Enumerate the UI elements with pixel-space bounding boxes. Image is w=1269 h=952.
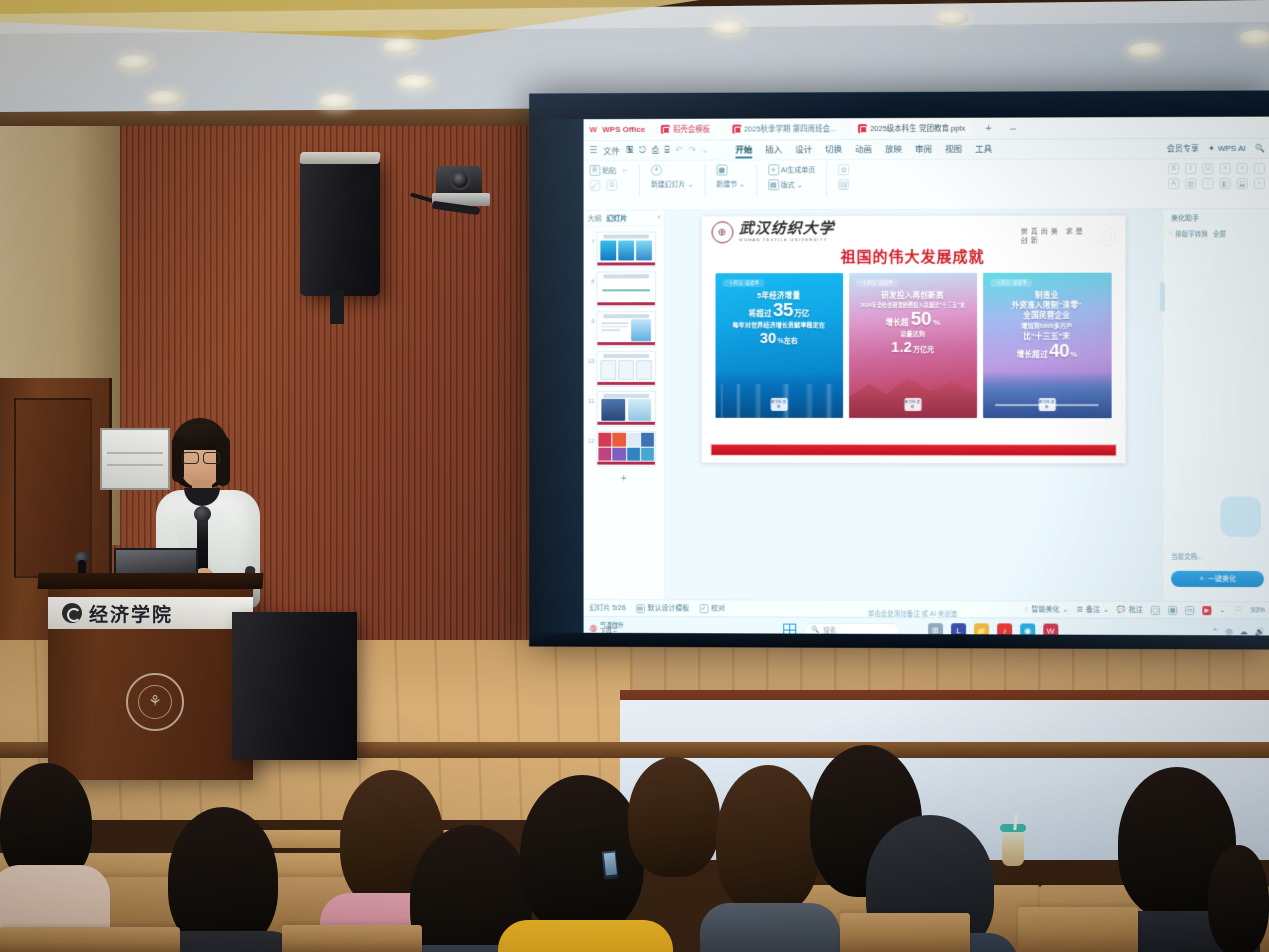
undo-icon[interactable]: ↶ [675,145,682,156]
wps-brand-icon: W [589,125,599,134]
beautify-cta-label: 一键美化 [1208,574,1236,584]
taskbar-apps: ⊞ L 📁 ♪ ◉ W [928,623,1058,636]
ai-page-button[interactable]: ✧ AI生成单页 [768,164,815,175]
audience-shoulders [498,920,673,952]
network-icon[interactable]: ◎ [1226,627,1233,636]
layout-grid-icon: ▦ [716,165,727,176]
toolbar-divider [826,164,827,196]
reading-view-icon[interactable]: ▭ [1185,606,1194,615]
thumbnail-number: 11 [587,391,595,405]
minimize-button[interactable]: – [1006,122,1020,134]
university-name: 武汉纺织大学 WUHAN TEXTILE UNIVERSITY [739,222,835,242]
speaker-top-cap [299,152,380,164]
card-body: 制造业 外资准入限制"清零" 全国民营企业 增加到5800多万户 比"十三五"末… [983,287,1112,361]
hexagon-decor-icon [1096,223,1117,251]
achievement-card-1: "十四五"成绩单 5年经济增量 将超过 35 万亿 每年对世界经济增长贡献率稳定… [715,273,843,418]
card-big-unit: % [933,318,940,327]
toolbar-divider [704,165,705,197]
copy-button[interactable]: ⧉ [606,180,617,191]
current-slide[interactable]: ⊕ 武汉纺织大学 WUHAN TEXTILE UNIVERSITY 崇真尚美 求… [701,215,1125,463]
card-big-unit: 万亿 [794,309,809,318]
windows-taskbar: ◍ 气温微升 下周三 🔍 搜索 ⊞ L 📁 ♪ [584,616,1269,636]
downlight-icon [398,75,432,90]
card-big-number: 35 [773,301,793,320]
chip-share-label: 全屏 [1213,228,1226,238]
ribbon-tab-design[interactable]: 设计 [795,143,812,157]
motto-calligraphy: 崇真尚美 求是创新 [1021,228,1091,246]
ribbon-tabs: 开始 插入 设计 切换 动画 放映 审阅 视图 工具 [735,142,992,157]
zoom-level[interactable]: 93% [1251,607,1265,614]
search-placeholder: 搜索 [823,625,836,635]
save-icon[interactable]: 🖫 [626,143,633,157]
card-line-1: 研发投入再创新高 [855,291,971,301]
card-line-5: 比"十三五"末 [989,332,1105,342]
tab-template-label: 稻壳会模板 [673,124,710,135]
chip-fullscreen[interactable]: 全屏 [1213,228,1226,238]
ribbon-tab-view[interactable]: 视图 [945,142,962,156]
downlight-icon [383,39,417,54]
search-icon[interactable]: 🔍 [1255,144,1265,153]
weather-temp: 气温微升 [600,623,624,629]
slide-decoration: 崇真尚美 求是创新 [1021,222,1117,252]
section-button[interactable]: 新建节 ⌄ [716,179,745,189]
tab-template-store[interactable]: 稻壳会模板 [655,122,716,137]
audience-head [1208,845,1269,952]
audience-head [520,775,644,935]
card-body: 研发投入再创新高 2024年全社会研发经费投入总量比"十三五"末 增长超 50 … [849,287,977,356]
slide-notes-placeholder[interactable]: 单击此处添加备注 或 AI 来创造 [665,607,1162,619]
panel-title: 美化助手 [1163,209,1269,223]
ribbon-tab-transition[interactable]: 切换 [825,143,842,157]
chip-font-convert[interactable]: ◌ 排版字转换 [1169,228,1208,238]
ribbon-tab-insert[interactable]: 插入 [765,143,782,157]
wps-ai-button[interactable]: ✦ WPS AI [1208,144,1246,153]
university-name-cn: 武汉纺织大学 [739,222,835,237]
template-icon: ▤ [636,604,645,613]
university-emblem: ⚘ [126,673,184,731]
layout-label: 版式 [781,180,795,190]
slide-thumbnail[interactable] [596,232,655,268]
find-replace-icon[interactable]: ⌕ [1254,178,1265,189]
thumbnail-panel-header: 大纲 幻灯片 ‹ [584,211,664,227]
list-item[interactable]: 8 [584,269,664,309]
slide-thumbnail[interactable] [596,311,655,347]
print-preview-icon[interactable]: ⌸ [664,145,669,156]
card-line-3: 全国民营企业 [989,311,1105,321]
card-big-unit-2: %左右 [777,338,797,345]
achievement-card-2: "十四五"成绩单 研发投入再创新高 2024年全社会研发经费投入总量比"十三五"… [849,273,977,418]
microphone-head [194,506,211,522]
card-photo-bridge [983,372,1112,418]
wps-ribbon-toolbar: ⎘ 粘贴 ✂ 🖌 ⧉ [584,159,1269,211]
play-icon[interactable]: ▶ [1202,606,1211,615]
ribbon-tab-review[interactable]: 审阅 [915,142,932,156]
paste-button[interactable]: ⎘ 粘贴 [589,165,616,176]
card-line-1: 制造业 [989,291,1105,301]
card-line-2: 外资准入限制"清零" [989,301,1105,311]
lectern-top [37,573,263,589]
paste-icon: ⎘ [589,165,600,176]
wall-speaker [300,158,380,296]
font-color-icon[interactable]: A [1168,178,1179,189]
layout-group: ▦ 新建节 ⌄ [716,164,745,189]
clipboard-group: ⎘ 粘贴 ✂ 🖌 ⧉ [589,165,628,191]
downlight-icon [148,91,182,106]
downlight-icon [1240,30,1269,45]
thumb-content [597,238,655,262]
card-line-3-prefix: 增长超 [885,318,908,328]
thumbnail-number: 7 [587,232,595,246]
thumbnail-number: 10 [587,351,595,365]
card-big-number: 50 [911,310,931,329]
file-menu-button[interactable]: 文件 [603,144,620,156]
thumb-accent-bar [597,462,655,465]
beautify-icon[interactable]: ✿ [838,164,849,175]
tab-outline[interactable]: 大纲 [588,213,602,223]
member-benefits-button[interactable]: 会员专享 [1167,143,1199,154]
slide-counter: 幻灯片 5/26 [589,603,625,613]
ai-sparkle-icon: ✧ [768,164,779,175]
school-name-label: 经济学院 [89,600,173,627]
wps-ai-label: WPS AI [1218,144,1246,153]
achievement-card-3: "十四五"成绩单 制造业 外资准入限制"清零" 全国民营企业 增加到5800多万… [983,273,1112,418]
thumb-content [597,358,655,382]
audience-area [0,735,1269,952]
copy-icon: ⧉ [606,180,617,191]
audience-phone [600,849,619,881]
task-view-icon[interactable]: ⊞ [928,623,943,636]
thumb-accent-bar [597,422,655,425]
audience-shoulders [700,903,840,952]
align-left-icon[interactable]: ≡ [1219,163,1230,174]
document-tab-2-label: 2025级本科生 党团教育.pptx [870,123,965,134]
ai-group: ✧ AI生成单页 ▤ 版式 ⌄ [768,164,815,190]
bench-seatback [282,925,422,952]
glasses-icon [181,452,221,463]
school-logo-icon [62,603,82,623]
card-photo-mountain [849,372,977,418]
card-source-badge: 新华社 发布 [904,398,921,411]
document-tab-1-label: 2025秋季学期 第四周班会... [744,123,836,134]
template-icon [661,125,670,134]
picture-icon[interactable]: 🖼 [838,179,849,190]
wps-workspace: 大纲 幻灯片 ‹ 7 [584,209,1269,601]
card-big-number-2: 1.2 [891,340,912,356]
bench-seatback [1018,907,1138,952]
card-big-unit: % [1070,350,1077,359]
list-item[interactable]: 12 [584,429,664,469]
university-seal-icon: ⊕ [711,221,733,243]
slide-cards: "十四五"成绩单 5年经济增量 将超过 35 万亿 每年对世界经济增长贡献率稳定… [701,273,1125,418]
chevron-down-icon: ⌄ [797,181,803,189]
line-spacing-icon[interactable]: ↕ [1202,178,1213,189]
slide-thumbnail[interactable] [596,271,655,307]
cloud-icon[interactable]: ☁ [1240,627,1248,636]
kugou-icon[interactable]: ♪ [997,623,1012,636]
pptx-file-icon [858,124,867,133]
downlight-icon [319,94,353,109]
thumb-accent-bar [597,302,655,305]
brush-icon: 🖌 [589,180,600,191]
underline-icon[interactable]: U [1202,163,1213,174]
cut-button[interactable]: ✂ [622,166,628,174]
downlight-icon [118,55,152,70]
card-big-unit-2: 万亿元 [913,347,934,354]
arrange-icon[interactable]: ⬓ [1237,178,1248,189]
slide-layout-icon: ▤ [768,179,779,190]
ptz-camera [432,166,490,214]
align-center-icon[interactable]: ≡ [1237,163,1248,174]
highlight-icon[interactable]: ▨ [1185,178,1196,189]
slides-group: + 新建幻灯片 ⌄ [651,165,694,190]
downlight-icon [1128,43,1162,58]
teams-icon[interactable]: L [951,623,966,636]
camera-lens-icon [450,170,470,190]
chip-font-label: 排版字转换 [1175,228,1208,238]
new-slide-icon-button[interactable]: + [651,165,662,176]
university-name-en: WUHAN TEXTILE UNIVERSITY [739,238,835,242]
card-source-badge: 新华社 发布 [770,398,787,411]
ai-page-label: AI生成单页 [781,165,816,175]
wps-office-window: W WPS Office 稻壳会模板 2025秋季学期 第四周班会... 202… [584,117,1269,636]
thumb-accent-bar [597,382,655,385]
card-line-6-prefix: 增长超过 [1017,350,1048,360]
door-panel [14,398,92,578]
slide-thumbnail[interactable] [596,431,655,467]
ribbon-tab-animation[interactable]: 动画 [855,143,872,157]
list-item[interactable]: 9 [584,309,664,349]
file-explorer-icon[interactable]: 📁 [974,623,989,636]
wps-title-bar: W WPS Office 稻壳会模板 2025秋季学期 第四周班会... 202… [584,117,1269,141]
list-item[interactable]: 10 [584,349,664,389]
search-input[interactable]: 🔍 搜索 [804,622,900,635]
bold-icon[interactable]: B [1168,163,1179,174]
document-tab-1[interactable]: 2025秋季学期 第四周班会... [726,121,842,136]
card-tag: "十四五"成绩单 [856,279,899,287]
downlight-icon [935,10,969,25]
plus-circle-icon: + [651,165,662,176]
font-format-group: B I U ≡ ≡ ⋮ A ▨ ↕ ◧ ⬓ ⌕ [1168,163,1265,189]
fit-to-window-icon[interactable]: ⛶ [1234,606,1243,615]
drink-cup [1002,828,1024,866]
card-tag: "十四五"成绩单 [990,279,1033,287]
volume-icon[interactable]: 🔊 [1255,627,1265,636]
new-slide-button[interactable]: 新建幻灯片 ⌄ [651,180,694,190]
chevron-down-icon: ⌄ [688,181,694,189]
card-line-4: 增加到5800多万户 [989,323,1105,332]
slide-thumbnail-panel: 大纲 幻灯片 ‹ 7 [584,211,665,600]
screen-bezel-top [529,90,1269,119]
system-tray: ⌃ ◎ ☁ 🔊 [1212,627,1265,636]
card-line-2-prefix: 将超过 [749,309,772,319]
search-icon: 🔍 [811,626,819,634]
new-slide-label: 新建幻灯片 [651,180,686,190]
audience-head [716,765,820,915]
thumbnail-list[interactable]: 7 8 [584,227,664,600]
slide-sorter-icon[interactable]: ▩ [1168,605,1177,614]
ribbon-tab-home[interactable]: 开始 [735,143,752,157]
layout-select-button[interactable]: ▤ 版式 ⌄ [768,179,803,190]
weather-icon: ◍ [589,624,597,633]
pptx-file-icon [732,125,741,134]
slide-thumbnail[interactable] [596,391,655,427]
card-line-4: 总量达到 [855,331,971,340]
layout-icon-button[interactable]: ▦ [716,165,727,176]
chevron-down-icon[interactable]: ⌄ [701,145,708,156]
document-tab-2[interactable]: 2025级本科生 党团教育.pptx [852,121,971,136]
slide-accent-bar [710,444,1116,456]
audience-head [628,757,720,877]
add-slide-button[interactable]: + [584,469,664,489]
speaker-bracket [330,290,344,324]
panel-preview-placeholder [1220,497,1260,537]
redo-icon[interactable]: ↷ [688,145,695,156]
ribbon-tab-tools[interactable]: 工具 [975,142,992,156]
toolbar-divider [639,165,640,197]
quick-access-toolbar: ☰ 文件 🖫 ⎋ ⎙ ⌸ ↶ ↷ ⌄ [589,143,708,157]
thumbnail-number: 12 [587,431,595,445]
screen-left-spill [529,93,583,646]
chevron-left-icon[interactable]: ‹ [658,215,660,222]
font-icon: ◌ [1169,230,1173,237]
list-item[interactable]: 11 [584,389,664,429]
beautify-cta-button[interactable]: ✧ 一键美化 [1171,571,1264,587]
magic-wand-icon: ✧ [1199,575,1205,583]
bench-seatback [840,913,970,952]
chevron-up-icon[interactable]: ⌃ [1212,627,1219,636]
chevron-down-icon: ⌄ [739,180,745,188]
wps-brand-label: WPS Office [602,125,645,134]
bench-seatback [0,927,180,952]
section-label: 新建节 [716,179,737,189]
tab-slides[interactable]: 幻灯片 [606,213,627,223]
thumb-accent-bar [597,342,655,345]
thumbnail-number: 9 [587,311,595,325]
chevron-down-icon[interactable]: ⌄ [1220,606,1226,614]
panel-chips: ◌ 排版字转换 全屏 [1163,223,1269,243]
format-painter-button[interactable]: 🖌 [589,180,600,191]
edge-icon[interactable]: ◉ [1020,623,1035,636]
scissors-icon: ✂ [622,166,628,174]
wps-icon[interactable]: W [1043,623,1058,635]
italic-icon[interactable]: I [1185,163,1196,174]
hamburger-icon[interactable]: ☰ [589,145,597,156]
panel-drag-handle[interactable] [1160,282,1165,312]
lecture-hall-scene: W WPS Office 稻壳会模板 2025秋季学期 第四周班会... 202… [0,0,1269,952]
slide-canvas-area[interactable]: ⊕ 武汉纺织大学 WUHAN TEXTILE UNIVERSITY 崇真尚美 求… [665,209,1162,601]
thumbnail-number: 8 [587,271,595,285]
card-big-number: 40 [1049,342,1069,361]
camera-body [436,166,482,194]
slide-thumbnail[interactable] [596,351,655,387]
sparkle-icon: ✦ [1208,144,1215,153]
thumb-accent-bar [597,262,655,265]
ai-beautify-panel: 美化助手 ◌ 排版字转换 全屏 当前文档... ✧ 一键 [1162,209,1269,601]
card-source-badge: 新华社 发布 [1038,398,1055,411]
panel-status-text: 当前文档... [1171,551,1203,561]
print-icon[interactable]: ⎙ [652,145,659,156]
beautify-group: ✿ 🖼 [838,164,849,190]
list-item[interactable]: 7 [584,229,664,269]
ribbon-right-actions: 会员专享 ✦ WPS AI 🔍 [1167,143,1265,154]
card-body: 5年经济增量 将超过 35 万亿 每年对世界经济增长贡献率稳定在 30 [715,287,843,347]
ribbon-tab-slideshow[interactable]: 放映 [885,142,902,156]
shape-fill-icon[interactable]: ◧ [1219,178,1230,189]
toolbar-divider [756,164,757,196]
cloud-sync-icon[interactable]: ⎋ [639,145,646,156]
new-tab-button[interactable]: + [981,122,995,134]
card-big-number-2: 30 [760,331,777,347]
card-photo-city [715,372,843,418]
wps-logo: W WPS Office [589,125,645,134]
card-tag: "十四五"成绩单 [722,279,764,287]
downlight-icon [712,20,746,35]
bullet-list-icon[interactable]: ⋮ [1254,163,1265,174]
lectern-nameplate: 经济学院 [48,597,253,629]
card-line-3: 每年对世界经济增长贡献率稳定在 [721,322,837,331]
university-emblem-inner: ⚘ [138,685,172,719]
wps-menu-bar: ☰ 文件 🖫 ⎋ ⎙ ⌸ ↶ ↷ ⌄ 开始 插入 设计 切换 动画 放映 [584,139,1269,161]
projection-screen: W WPS Office 稻壳会模板 2025秋季学期 第四周班会... 202… [529,90,1269,649]
paste-label: 粘贴 [602,165,616,175]
